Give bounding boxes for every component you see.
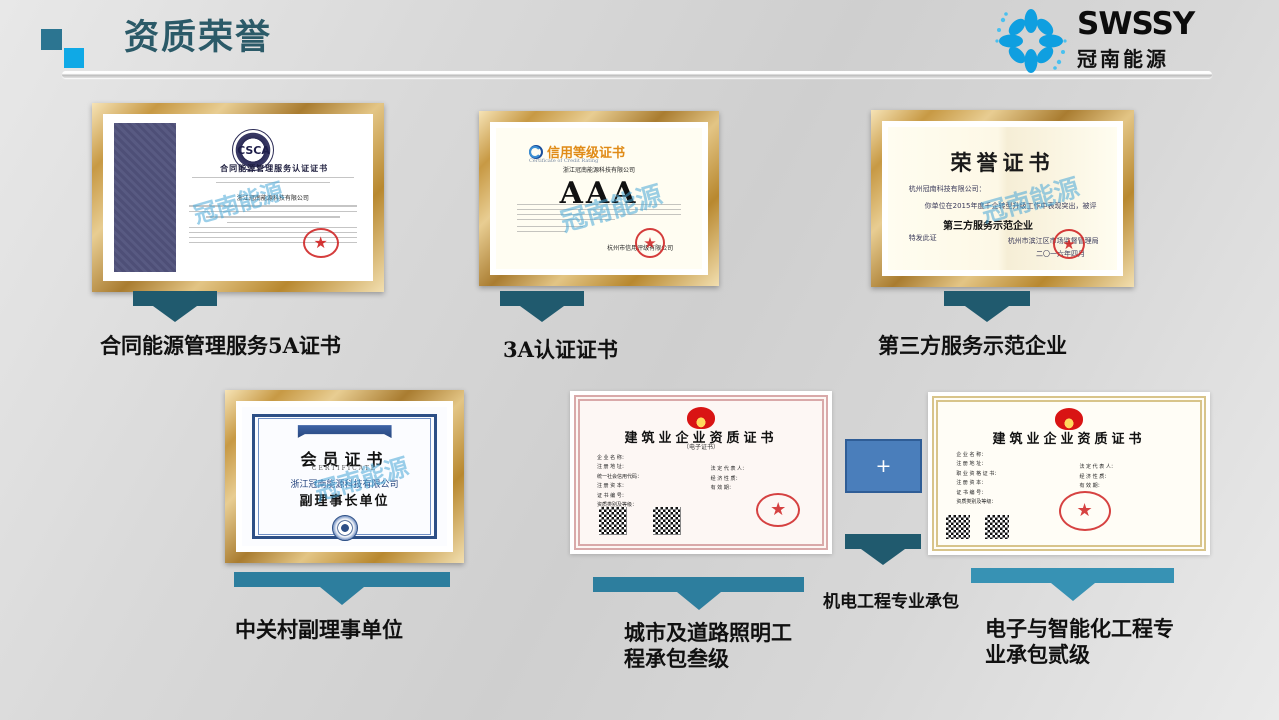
brand-logo: SWSSY 冠南能源 [991,6,1261,78]
certificate-award-line: 第三方服务示范企业 [943,217,1033,232]
page-title: 资质荣誉 [124,17,272,61]
certificate-caption-3: 第三方服务示范企业 [878,333,1067,359]
brand-chinese-name: 冠南能源 [1077,43,1257,72]
red-star-seal-icon: ★ [303,228,339,258]
certificate-doc-title: 建筑业企业资质证书 [992,428,1145,447]
certificate-role-line: 副理事长单位 [299,490,389,509]
certificate-doc-subtitle: CERTIFICATE [312,465,377,472]
certificate-paper: 建筑业企业资质证书 企 业 名 称：注 册 地 址： 职 业 资 格 证 书：注… [932,396,1206,551]
certificate-org-line: 浙江冠南能源科技有限公司 [192,193,355,202]
certificate-caption-2: 3A认证证书 [503,337,618,363]
brand-latin-name: SWSSY [1077,8,1257,41]
certificate-card-6[interactable]: 建筑业企业资质证书 企 业 名 称：注 册 地 址： 职 业 资 格 证 书：注… [928,392,1210,555]
qr-code-icon [653,507,681,535]
certificate-side-strip [114,123,176,272]
red-round-seal-icon: ★ [1053,229,1085,259]
plus-icon: + [876,455,892,477]
pointer-arrow-3 [944,291,1030,322]
certificate-caption-6: 电子与智能化工程专 业承包贰级 [985,616,1174,667]
certificate-doc-title: 合同能源管理服务认证证书 [192,163,357,174]
certificate-field-labels-left: 企 业 名 称：注 册 地 址： 统一社会信用代码：注 册 资 本： 证 书 编… [597,454,642,511]
add-certificate-button[interactable]: + [845,439,922,493]
certificate-caption-4: 中关村副理事单位 [235,617,403,643]
certificate-field-labels-left: 企 业 名 称：注 册 地 址： 职 业 资 格 证 书：注 册 资 本： 证 … [956,451,999,508]
pointer-arrow-extra [845,534,921,565]
certificate-mat: CSCA 合同能源管理服务认证证书 浙江冠南能源科技有限公司 ★ 冠南能源 [103,114,373,281]
certificate-org-line: 浙江冠南能源科技有限公司 [563,165,635,174]
certificate-frame: 建筑业企业资质证书 企 业 名 称：注 册 地 址： 职 业 资 格 证 书：注… [928,392,1210,555]
red-star-seal-icon: ★ [756,493,800,527]
certificate-org-line: 浙江冠南能源科技有限公司 [290,477,398,490]
qr-code-icon [946,515,970,539]
certificate-mat: 会员证书 CERTIFICATE 浙江冠南能源科技有限公司 副理事长单位 冠南能… [236,401,453,552]
qr-code-icon [599,507,627,535]
pointer-arrow-1 [133,291,217,322]
water-droplet-burst-icon [991,8,1071,74]
pointer-arrow-6 [971,568,1174,601]
certificate-frame: CSCA 合同能源管理服务认证证书 浙江冠南能源科技有限公司 ★ 冠南能源 [92,103,384,292]
certificate-frame: 信用等级证书 Certificate of Credit Rating 浙江冠南… [479,111,719,286]
brand-wordmark: SWSSY 冠南能源 [1077,8,1257,72]
national-emblem-icon [687,407,715,429]
certificate-card-2[interactable]: 信用等级证书 Certificate of Credit Rating 浙江冠南… [479,111,719,286]
certificate-caption-1: 合同能源管理服务5A证书 [100,333,341,359]
certificate-doc-subtitle: （电子证书） [683,442,719,451]
certificate-card-1[interactable]: CSCA 合同能源管理服务认证证书 浙江冠南能源科技有限公司 ★ 冠南能源 [92,103,384,292]
certificate-frame: 建筑业企业资质证书 （电子证书） 企 业 名 称：注 册 地 址： 统一社会信用… [570,391,832,554]
certificate-org-line: 杭州冠南科技有限公司： [909,184,986,194]
certificate-paper: 建筑业企业资质证书 （电子证书） 企 业 名 称：注 册 地 址： 统一社会信用… [574,395,828,550]
certificate-doc-subtitle: Certificate of Credit Rating [529,158,598,164]
red-round-seal-icon: ★ [635,228,665,258]
certificate-frame: 荣誉证书 杭州冠南科技有限公司： 你单位在2015年度千企转型升级工作中表现突出… [871,110,1134,287]
certificate-field-labels-right: 法 定 代 表 人：经 济 性 质： 有 效 期： [1079,463,1115,492]
certificate-card-3[interactable]: 荣誉证书 杭州冠南科技有限公司： 你单位在2015年度千企转型升级工作中表现突出… [871,110,1134,287]
blue-round-seal-icon [332,515,358,541]
pointer-arrow-2 [500,291,584,322]
extra-caption: 机电工程专业承包 [823,592,959,613]
certificate-paper: 荣誉证书 杭州冠南科技有限公司： 你单位在2015年度千企转型升级工作中表现突出… [888,127,1117,270]
certificate-card-4[interactable]: 会员证书 CERTIFICATE 浙江冠南能源科技有限公司 副理事长单位 冠南能… [225,390,464,563]
certificate-mat: 荣誉证书 杭州冠南科技有限公司： 你单位在2015年度千企转型升级工作中表现突出… [882,121,1123,276]
certificate-frame: 会员证书 CERTIFICATE 浙江冠南能源科技有限公司 副理事长单位 冠南能… [225,390,464,563]
certificate-body-line: 你单位在2015年度千企转型升级工作中表现突出，被评 [925,201,1097,211]
certificate-paper: 会员证书 CERTIFICATE 浙江冠南能源科技有限公司 副理事长单位 冠南能… [242,407,447,546]
pointer-arrow-4 [234,572,450,605]
certificate-doc-title: 荣誉证书 [951,147,1055,177]
pointer-arrow-5 [593,577,804,610]
decor-square-bright [64,48,84,68]
certificate-paper: 信用等级证书 Certificate of Credit Rating 浙江冠南… [496,128,702,269]
certificate-note-line: 特发此证 [909,233,937,243]
red-star-seal-icon: ★ [1059,491,1111,531]
certificate-mat: 信用等级证书 Certificate of Credit Rating 浙江冠南… [490,122,708,275]
national-emblem-icon [1055,408,1083,430]
decor-square-dark [41,29,62,50]
header-decor-squares [41,29,97,69]
credit-logo-icon [529,145,543,159]
certificate-paper: CSCA 合同能源管理服务认证证书 浙江冠南能源科技有限公司 ★ 冠南能源 [109,120,367,275]
certificate-card-5[interactable]: 建筑业企业资质证书 （电子证书） 企 业 名 称：注 册 地 址： 统一社会信用… [570,391,832,554]
certificate-field-labels-right: 法 定 代 表 人：经 济 性 质： 有 效 期： [711,465,747,494]
certificate-caption-5: 城市及道路照明工 程承包叁级 [624,620,792,671]
qr-code-icon [985,515,1009,539]
page-header: 资质荣誉 [0,0,1279,88]
